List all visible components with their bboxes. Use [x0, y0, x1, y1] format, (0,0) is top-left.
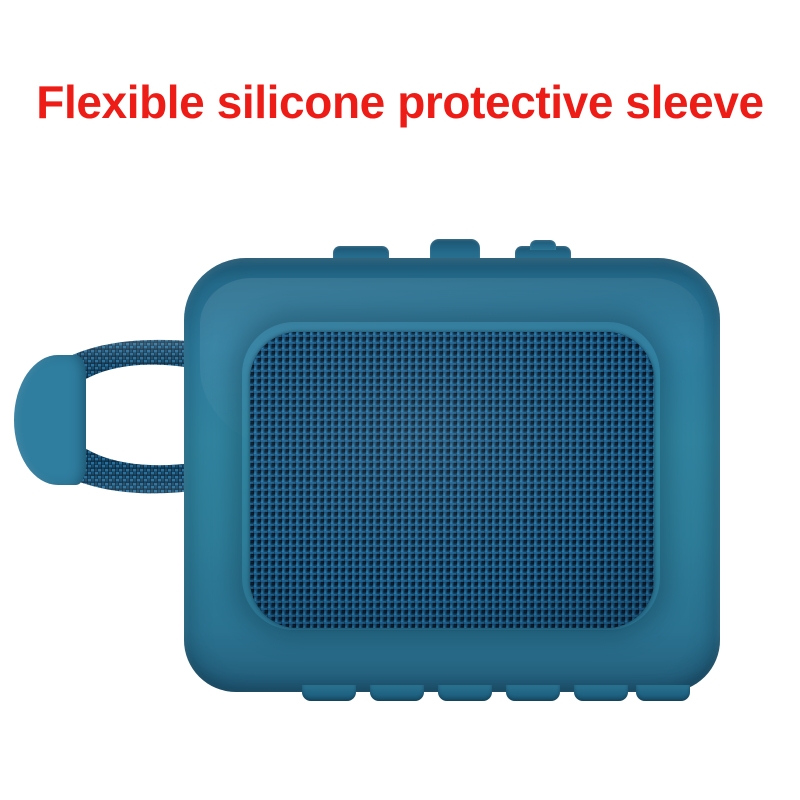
bottom-foot [370, 685, 424, 701]
grille-shading [250, 332, 654, 628]
bottom-foot [574, 685, 628, 701]
product-photo [0, 0, 800, 800]
volume-up-button-nub[interactable] [530, 240, 556, 250]
silicone-body [184, 258, 720, 692]
bottom-foot [302, 685, 356, 701]
bottom-foot [506, 685, 560, 701]
bottom-foot [636, 685, 690, 701]
speaker-grille [250, 332, 654, 628]
speaker-with-sleeve [184, 250, 722, 698]
bottom-foot [438, 685, 492, 701]
product-image-canvas: Flexible silicone protective sleeve [0, 0, 800, 800]
